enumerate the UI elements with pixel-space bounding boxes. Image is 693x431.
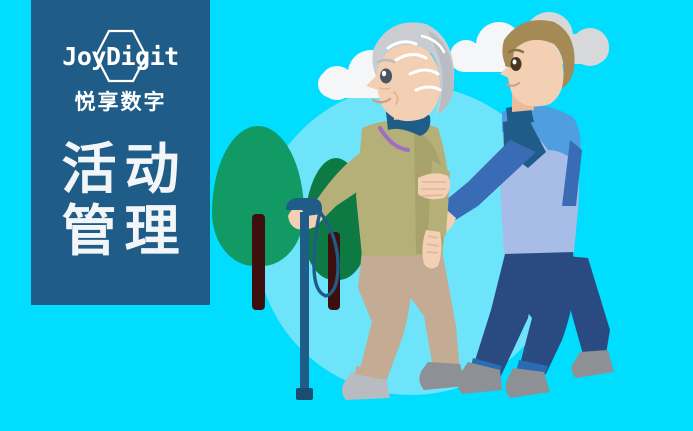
- logo-lockup: JoyDigit: [46, 28, 196, 84]
- logo-wordmark: JoyDigit: [62, 44, 178, 69]
- page-title: 活动 管理: [53, 139, 187, 262]
- people-group: [210, 0, 693, 431]
- page-title-line-1: 活动: [53, 139, 187, 201]
- walking-cane-icon: [286, 198, 338, 400]
- brand-panel: JoyDigit 悦享数字 活动 管理: [31, 0, 210, 305]
- poster-canvas: JoyDigit 悦享数字 活动 管理: [0, 0, 693, 431]
- page-title-line-2: 管理: [53, 201, 187, 263]
- illustration: [210, 0, 693, 431]
- brand-chinese-name: 悦享数字: [75, 92, 167, 113]
